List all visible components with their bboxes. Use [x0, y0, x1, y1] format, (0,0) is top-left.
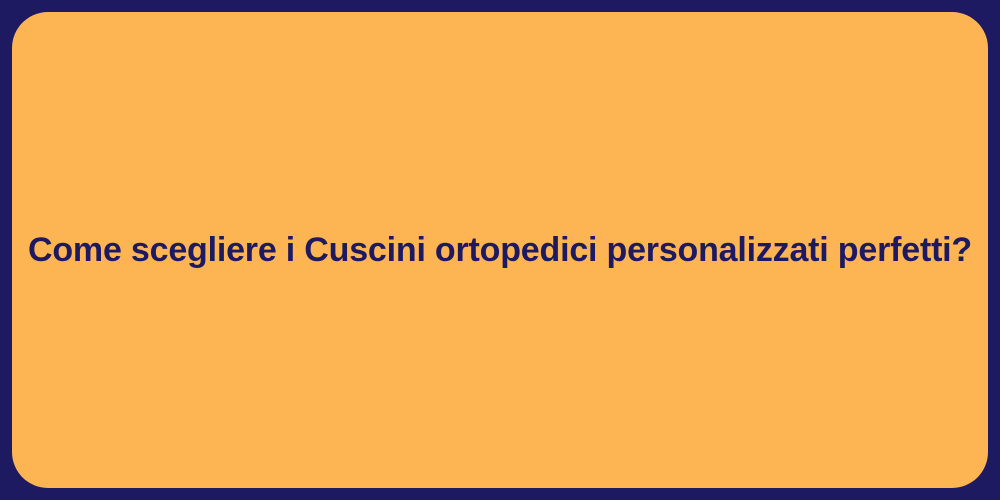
card-panel: Come scegliere i Cuscini ortopedici pers… — [12, 12, 988, 488]
card-heading: Come scegliere i Cuscini ortopedici pers… — [28, 229, 972, 272]
card-frame: Come scegliere i Cuscini ortopedici pers… — [0, 0, 1000, 500]
